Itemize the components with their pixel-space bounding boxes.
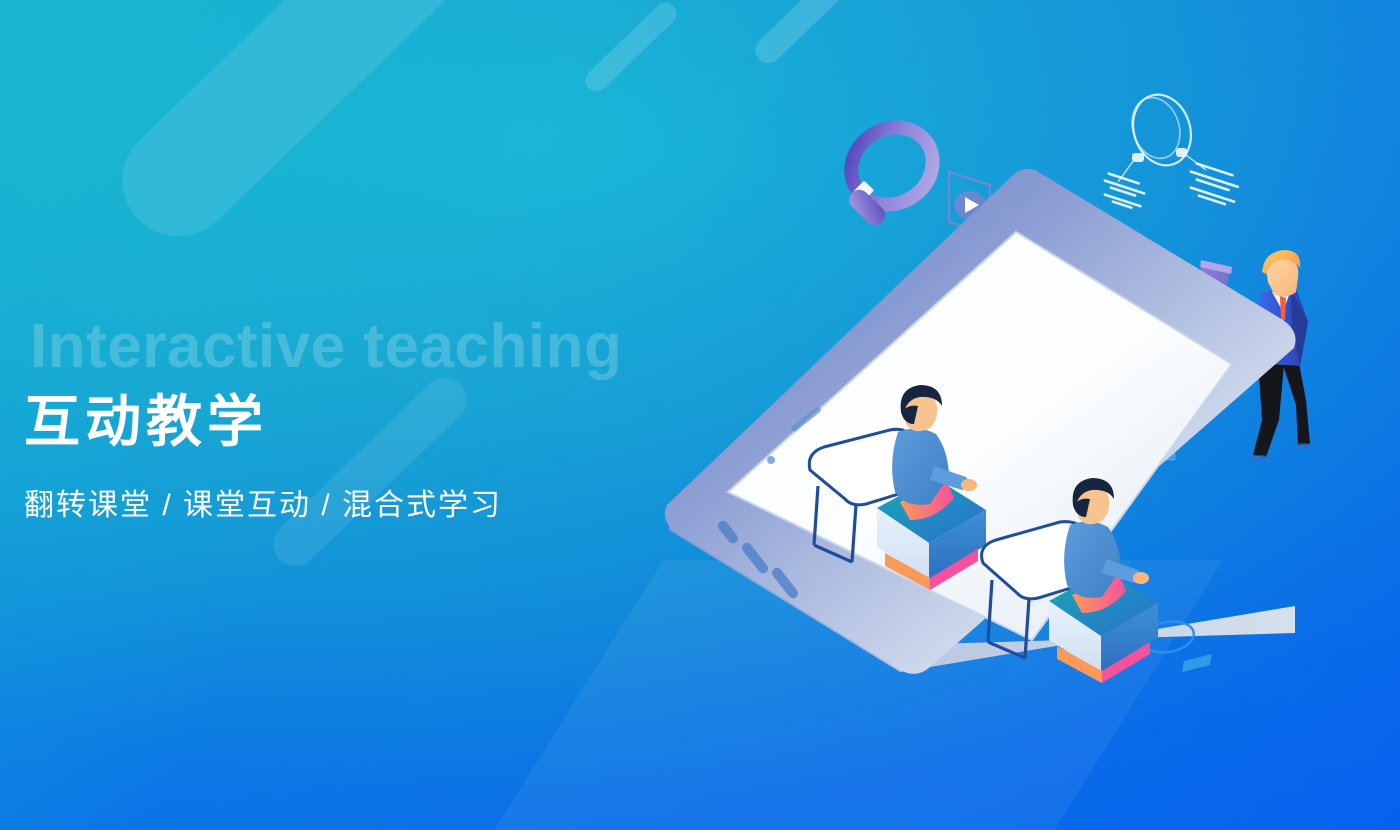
page-title: 互动教学 [24,394,622,450]
headline-block: Interactive teaching 互动教学 翻转课堂 / 课堂互动 / … [24,316,622,524]
ghost-title: Interactive teaching [30,316,622,378]
banner-root: Interactive teaching 互动教学 翻转课堂 / 课堂互动 / … [0,0,1400,830]
sub-title: 翻转课堂 / 课堂互动 / 混合式学习 [24,480,622,524]
